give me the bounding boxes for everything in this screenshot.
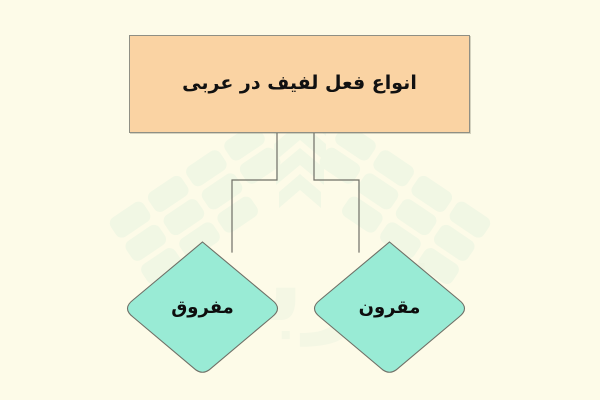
diagram-canvas: عربی انواع فعل لفیف در عربی مفروق <box>0 0 600 400</box>
connector-root-to-maqrun <box>314 133 359 252</box>
diamond-node-maqrun[interactable]: مقرون <box>307 240 472 375</box>
diamond-node-mafruq[interactable]: مفروق <box>120 240 285 375</box>
connector-root-to-mafruq <box>232 133 277 252</box>
root-node[interactable]: انواع فعل لفیف در عربی <box>129 35 470 133</box>
root-node-label: انواع فعل لفیف در عربی <box>182 71 417 97</box>
diamond-shape-maqrun <box>307 240 472 375</box>
diamond-shape-mafruq <box>120 240 285 375</box>
